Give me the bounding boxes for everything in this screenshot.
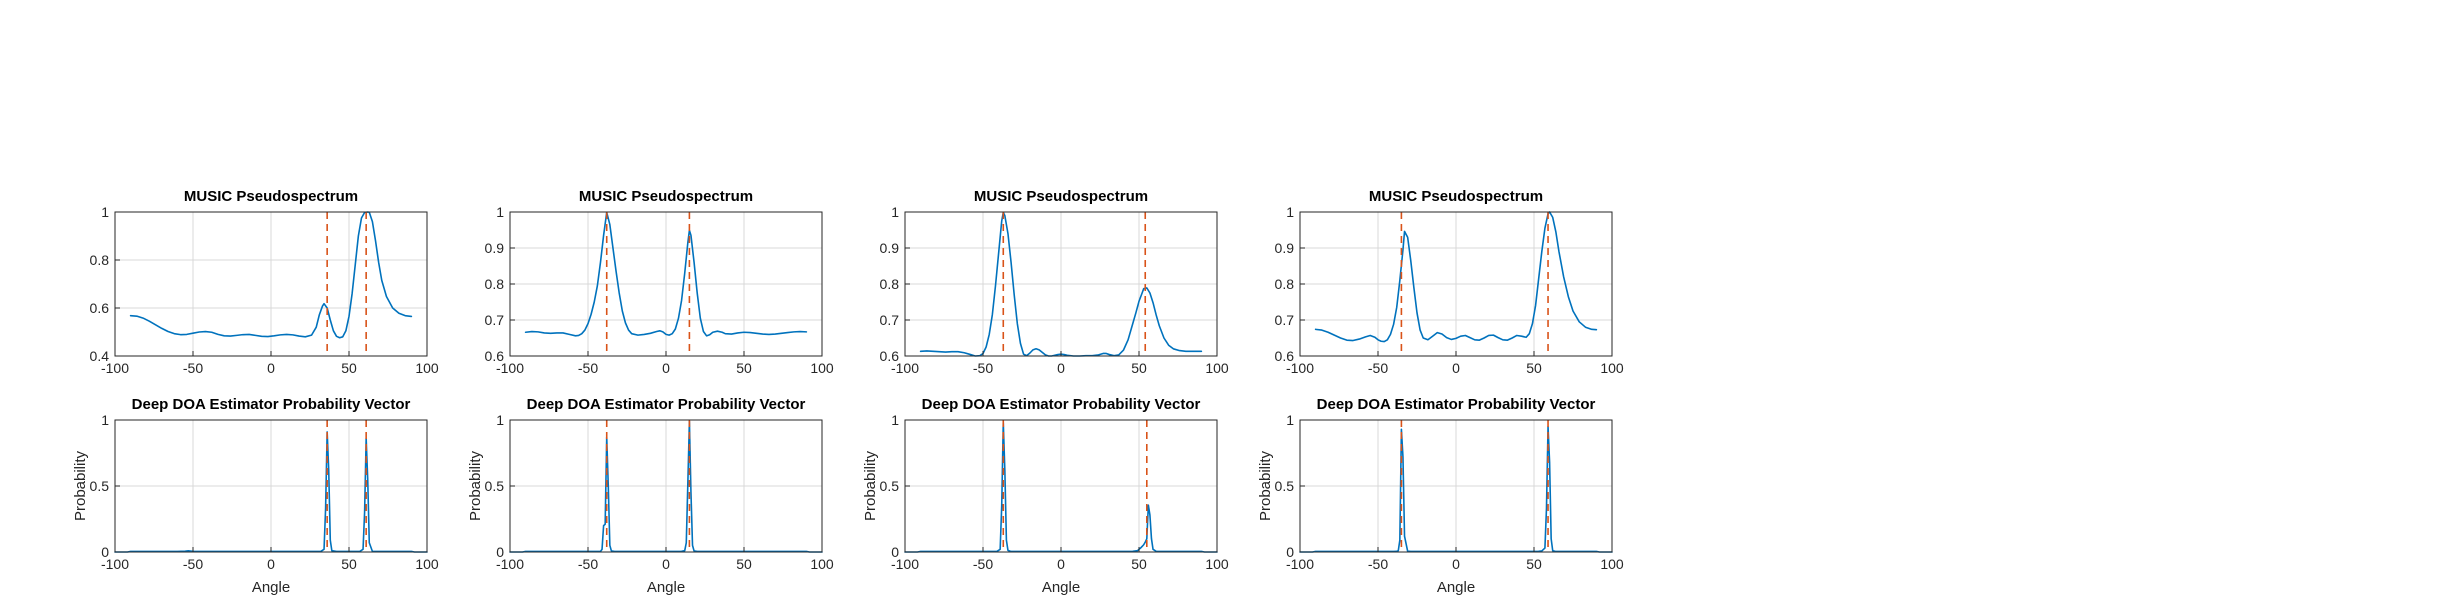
plot-title-deep-1: Deep DOA Estimator Probability Vector	[132, 396, 411, 413]
plot-title-music-1: MUSIC Pseudospectrum	[184, 188, 358, 205]
plot-svg-music-3: MUSIC Pseudospectrum-100-500501000.60.70…	[845, 170, 1240, 375]
x-tick-label: 0	[267, 556, 275, 572]
y-tick-label: 0	[1286, 544, 1294, 560]
grid-group	[510, 420, 822, 552]
y-tick-label: 0.5	[880, 478, 900, 494]
x-tick-label: 50	[1131, 556, 1147, 572]
plot-title-deep-2: Deep DOA Estimator Probability Vector	[527, 396, 806, 413]
y-tick-label: 1	[101, 412, 109, 428]
y-axis-label: Probability	[1257, 450, 1274, 521]
x-tick-label: 0	[1057, 360, 1065, 375]
plot-title-deep-3: Deep DOA Estimator Probability Vector	[922, 396, 1201, 413]
x-axis-label: Angle	[252, 579, 290, 596]
y-tick-label: 0.9	[880, 240, 900, 256]
x-tick-label: -50	[973, 360, 993, 375]
x-tick-label: 0	[1452, 556, 1460, 572]
x-tick-label: -50	[973, 556, 993, 572]
x-tick-label: 100	[810, 360, 834, 375]
x-tick-label: -50	[1368, 360, 1388, 375]
y-tick-label: 1	[1286, 412, 1294, 428]
y-tick-label: 0.9	[1275, 240, 1295, 256]
x-tick-label: 0	[1452, 360, 1460, 375]
x-tick-label: 50	[1526, 556, 1542, 572]
y-tick-label: 0.6	[485, 348, 505, 364]
x-axis-label: Angle	[647, 579, 685, 596]
x-tick-label: 50	[736, 556, 752, 572]
y-tick-label: 1	[1286, 204, 1294, 220]
x-tick-label: 100	[415, 360, 439, 375]
grid-group	[905, 212, 1217, 356]
plot-panel-music-4: MUSIC Pseudospectrum-100-500501000.60.70…	[1240, 170, 1635, 375]
y-tick-label: 1	[496, 412, 504, 428]
x-tick-label: 0	[662, 556, 670, 572]
plot-panel-music-2: MUSIC Pseudospectrum-100-500501000.60.70…	[450, 170, 845, 375]
x-axis-label: Angle	[1437, 579, 1475, 596]
x-tick-label: 100	[1205, 556, 1229, 572]
y-tick-label: 0.4	[90, 348, 110, 364]
plot-title-music-2: MUSIC Pseudospectrum	[579, 188, 753, 205]
figure-canvas: MUSIC Pseudospectrum-100-500501000.40.60…	[0, 0, 2440, 610]
y-tick-label: 0.7	[880, 312, 900, 328]
y-tick-label: 0	[496, 544, 504, 560]
grid-group	[1300, 420, 1612, 552]
y-tick-label: 1	[496, 204, 504, 220]
x-tick-label: 50	[341, 556, 357, 572]
x-tick-label: -50	[578, 360, 598, 375]
x-tick-label: 100	[1205, 360, 1229, 375]
y-axis-label: Probability	[467, 450, 484, 521]
plot-svg-music-1: MUSIC Pseudospectrum-100-500501000.40.60…	[55, 170, 450, 375]
y-tick-label: 0.6	[90, 300, 110, 316]
plot-title-deep-4: Deep DOA Estimator Probability Vector	[1317, 396, 1596, 413]
y-tick-label: 0.9	[485, 240, 505, 256]
plot-panel-music-1: MUSIC Pseudospectrum-100-500501000.40.60…	[55, 170, 450, 375]
plot-svg-deep-3: Deep DOA Estimator Probability Vector-10…	[845, 378, 1240, 610]
plot-svg-deep-2: Deep DOA Estimator Probability Vector-10…	[450, 378, 845, 610]
y-axis-label: Probability	[72, 450, 89, 521]
plot-panel-deep-3: Deep DOA Estimator Probability Vector-10…	[845, 378, 1240, 610]
y-tick-label: 0.8	[880, 276, 900, 292]
x-tick-label: 100	[810, 556, 834, 572]
y-tick-label: 0.6	[1275, 348, 1295, 364]
y-tick-label: 0.5	[485, 478, 505, 494]
x-tick-label: 100	[415, 556, 439, 572]
x-tick-label: -50	[1368, 556, 1388, 572]
y-tick-label: 1	[891, 204, 899, 220]
plot-panel-deep-4: Deep DOA Estimator Probability Vector-10…	[1240, 378, 1635, 610]
y-tick-label: 0	[101, 544, 109, 560]
x-tick-label: 50	[1131, 360, 1147, 375]
x-tick-label: 0	[662, 360, 670, 375]
x-tick-label: -50	[183, 556, 203, 572]
x-tick-label: 50	[341, 360, 357, 375]
y-tick-label: 1	[101, 204, 109, 220]
x-tick-label: 50	[736, 360, 752, 375]
plot-title-music-3: MUSIC Pseudospectrum	[974, 188, 1148, 205]
y-tick-label: 0	[891, 544, 899, 560]
y-tick-label: 0.8	[90, 252, 110, 268]
plot-svg-deep-4: Deep DOA Estimator Probability Vector-10…	[1240, 378, 1635, 610]
y-axis-label: Probability	[862, 450, 879, 521]
y-tick-label: 1	[891, 412, 899, 428]
y-tick-label: 0.5	[90, 478, 110, 494]
y-tick-label: 0.8	[1275, 276, 1295, 292]
y-tick-label: 0.7	[485, 312, 505, 328]
plot-svg-music-2: MUSIC Pseudospectrum-100-500501000.60.70…	[450, 170, 845, 375]
plot-svg-music-4: MUSIC Pseudospectrum-100-500501000.60.70…	[1240, 170, 1635, 375]
grid-group	[115, 420, 427, 552]
x-tick-label: 50	[1526, 360, 1542, 375]
y-tick-label: 0.5	[1275, 478, 1295, 494]
plot-panel-music-3: MUSIC Pseudospectrum-100-500501000.60.70…	[845, 170, 1240, 375]
x-tick-label: 0	[1057, 556, 1065, 572]
x-tick-label: -50	[183, 360, 203, 375]
x-axis-label: Angle	[1042, 579, 1080, 596]
y-tick-label: 0.8	[485, 276, 505, 292]
y-tick-label: 0.7	[1275, 312, 1295, 328]
y-tick-label: 0.6	[880, 348, 900, 364]
plot-title-music-4: MUSIC Pseudospectrum	[1369, 188, 1543, 205]
grid-group	[115, 212, 427, 356]
plot-panel-deep-2: Deep DOA Estimator Probability Vector-10…	[450, 378, 845, 610]
plot-panel-deep-1: Deep DOA Estimator Probability Vector-10…	[55, 378, 450, 610]
x-tick-label: 100	[1600, 360, 1624, 375]
x-tick-label: 100	[1600, 556, 1624, 572]
x-tick-label: 0	[267, 360, 275, 375]
x-tick-label: -50	[578, 556, 598, 572]
plot-svg-deep-1: Deep DOA Estimator Probability Vector-10…	[55, 378, 450, 610]
grid-group	[905, 420, 1217, 552]
